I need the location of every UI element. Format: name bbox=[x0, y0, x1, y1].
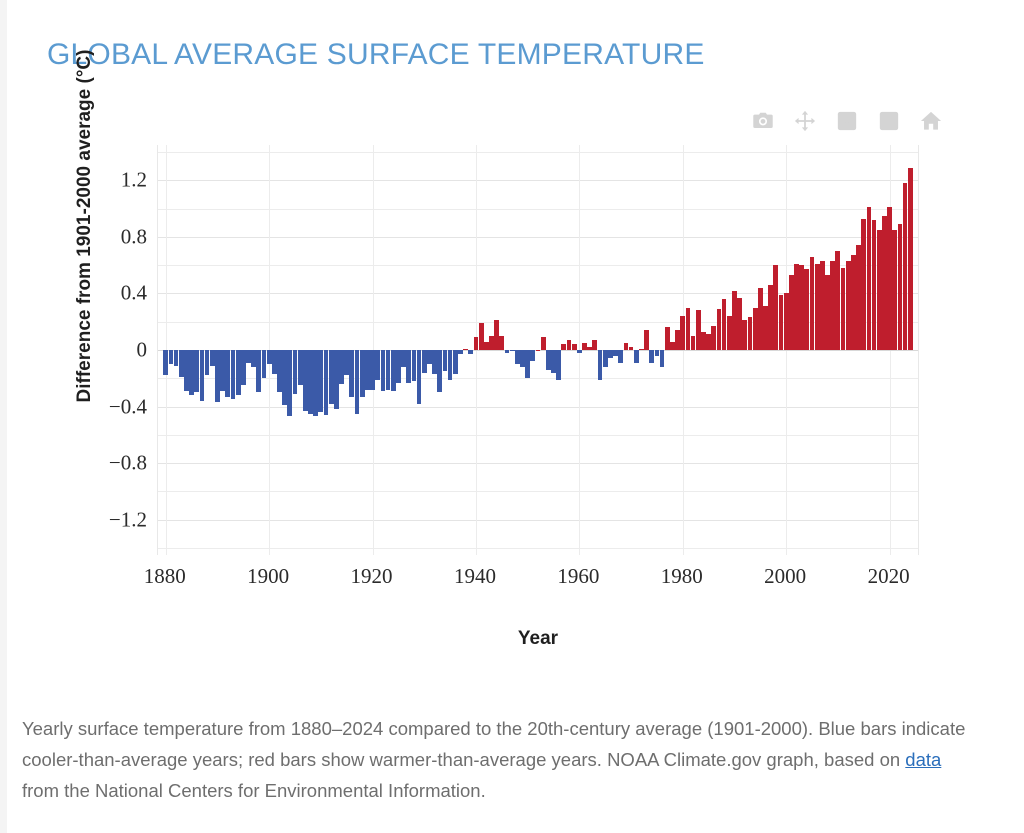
bar-1928[interactable] bbox=[412, 350, 417, 381]
bar-1994[interactable] bbox=[753, 308, 758, 350]
y-tick-label: −1.2 bbox=[87, 507, 147, 532]
bar-1932[interactable] bbox=[432, 350, 437, 374]
bar-1917[interactable] bbox=[355, 350, 360, 414]
bar-1904[interactable] bbox=[287, 350, 292, 416]
x-tick-label: 1900 bbox=[223, 564, 313, 589]
bar-1895[interactable] bbox=[241, 350, 246, 385]
bar-1884[interactable] bbox=[184, 350, 189, 391]
bar-1965[interactable] bbox=[603, 350, 608, 367]
bar-2001[interactable] bbox=[789, 275, 794, 350]
bar-1914[interactable] bbox=[339, 350, 344, 384]
bar-1990[interactable] bbox=[732, 291, 737, 350]
bar-1918[interactable] bbox=[360, 350, 365, 397]
bar-2023[interactable] bbox=[903, 183, 908, 350]
bar-1960[interactable] bbox=[577, 350, 582, 353]
bar-1912[interactable] bbox=[329, 350, 334, 404]
bar-1885[interactable] bbox=[189, 350, 194, 395]
bar-1995[interactable] bbox=[758, 288, 763, 350]
caption-text-part1: Yearly surface temperature from 1880–202… bbox=[22, 718, 965, 770]
bar-1999[interactable] bbox=[779, 295, 784, 350]
bar-2002[interactable] bbox=[794, 264, 799, 350]
bar-1926[interactable] bbox=[401, 350, 406, 367]
bar-2022[interactable] bbox=[898, 224, 903, 350]
bar-2009[interactable] bbox=[830, 261, 835, 350]
bar-1897[interactable] bbox=[251, 350, 256, 367]
bar-2020[interactable] bbox=[887, 207, 892, 350]
bar-1968[interactable] bbox=[618, 350, 623, 363]
bar-1973[interactable] bbox=[644, 330, 649, 350]
bar-2010[interactable] bbox=[835, 251, 840, 350]
bar-1900[interactable] bbox=[267, 350, 272, 364]
bar-2014[interactable] bbox=[856, 245, 861, 350]
bar-1978[interactable] bbox=[670, 342, 675, 350]
bar-1887[interactable] bbox=[200, 350, 205, 401]
chart-container: Difference from 1901-2000 average (°C) 1… bbox=[0, 0, 1024, 700]
bar-2021[interactable] bbox=[892, 230, 897, 350]
bar-1910[interactable] bbox=[318, 350, 323, 412]
bar-1962[interactable] bbox=[587, 347, 592, 350]
bar-1925[interactable] bbox=[396, 350, 401, 383]
bar-1930[interactable] bbox=[422, 350, 427, 373]
bar-1902[interactable] bbox=[277, 350, 282, 392]
bar-1974[interactable] bbox=[649, 350, 654, 363]
bar-2016[interactable] bbox=[867, 207, 872, 350]
bar-1929[interactable] bbox=[417, 350, 422, 404]
bar-1989[interactable] bbox=[727, 316, 732, 350]
bar-1920[interactable] bbox=[370, 350, 375, 390]
bar-1894[interactable] bbox=[236, 350, 241, 395]
x-tick-label: 1880 bbox=[120, 564, 210, 589]
bar-1959[interactable] bbox=[572, 344, 577, 350]
bar-1935[interactable] bbox=[448, 350, 453, 380]
x-tick-label: 1940 bbox=[430, 564, 520, 589]
bar-2024[interactable] bbox=[908, 168, 913, 350]
bar-1955[interactable] bbox=[551, 350, 556, 373]
bar-1970[interactable] bbox=[629, 347, 634, 350]
bar-1919[interactable] bbox=[365, 350, 370, 390]
bar-1911[interactable] bbox=[324, 350, 329, 415]
y-tick-label: 1.2 bbox=[87, 168, 147, 193]
bar-1971[interactable] bbox=[634, 350, 639, 363]
bar-1899[interactable] bbox=[262, 350, 267, 378]
x-tick-label: 1960 bbox=[533, 564, 623, 589]
bar-1954[interactable] bbox=[546, 350, 551, 370]
bar-1896[interactable] bbox=[246, 350, 251, 363]
bar-2007[interactable] bbox=[820, 261, 825, 350]
bar-1945[interactable] bbox=[499, 336, 504, 350]
bar-1892[interactable] bbox=[225, 350, 230, 397]
data-link[interactable]: data bbox=[905, 749, 941, 770]
bar-1986[interactable] bbox=[711, 326, 716, 350]
bar-1938[interactable] bbox=[463, 349, 468, 350]
x-tick-label: 1920 bbox=[327, 564, 417, 589]
bar-1984[interactable] bbox=[701, 332, 706, 350]
bar-1903[interactable] bbox=[282, 350, 287, 405]
y-axis-ticks: 1.20.80.40−0.4−0.8−1.2 bbox=[77, 145, 147, 555]
bar-1981[interactable] bbox=[686, 308, 691, 350]
bar-1958[interactable] bbox=[567, 340, 572, 350]
bar-1943[interactable] bbox=[489, 336, 494, 350]
bar-1893[interactable] bbox=[231, 350, 236, 399]
bar-1996[interactable] bbox=[763, 306, 768, 350]
bar-2011[interactable] bbox=[841, 268, 846, 350]
bar-1886[interactable] bbox=[194, 350, 199, 392]
bar-1967[interactable] bbox=[613, 350, 618, 356]
bar-1979[interactable] bbox=[675, 330, 680, 350]
bar-1977[interactable] bbox=[665, 327, 670, 350]
bar-2006[interactable] bbox=[815, 264, 820, 350]
bar-1889[interactable] bbox=[210, 350, 215, 366]
bar-1908[interactable] bbox=[308, 350, 313, 414]
bar-1961[interactable] bbox=[582, 343, 587, 350]
y-tick-label: 0 bbox=[87, 338, 147, 363]
bar-2017[interactable] bbox=[872, 220, 877, 350]
bar-1883[interactable] bbox=[179, 350, 184, 377]
bar-1933[interactable] bbox=[437, 350, 442, 392]
bar-1944[interactable] bbox=[494, 320, 499, 350]
bar-1880[interactable] bbox=[163, 350, 168, 375]
plot-area[interactable] bbox=[157, 145, 919, 555]
figure-caption: Yearly surface temperature from 1880–202… bbox=[22, 713, 982, 806]
bar-2019[interactable] bbox=[882, 216, 887, 350]
bar-1972[interactable] bbox=[639, 349, 644, 350]
bar-2000[interactable] bbox=[784, 293, 789, 350]
bar-1906[interactable] bbox=[298, 350, 303, 385]
bar-1907[interactable] bbox=[303, 350, 308, 411]
bar-1946[interactable] bbox=[505, 350, 510, 353]
x-axis-title: Year bbox=[157, 628, 919, 650]
bar-1998[interactable] bbox=[773, 265, 778, 350]
bar-1956[interactable] bbox=[556, 350, 561, 380]
bar-2004[interactable] bbox=[804, 269, 809, 350]
bar-1988[interactable] bbox=[722, 299, 727, 350]
x-tick-label: 2020 bbox=[844, 564, 934, 589]
bar-1916[interactable] bbox=[349, 350, 354, 397]
bar-1940[interactable] bbox=[474, 337, 479, 350]
bar-1966[interactable] bbox=[608, 350, 613, 358]
bar-1983[interactable] bbox=[696, 310, 701, 350]
bar-1937[interactable] bbox=[458, 350, 463, 354]
bar-1941[interactable] bbox=[479, 323, 484, 350]
bar-2015[interactable] bbox=[861, 219, 866, 350]
bar-1921[interactable] bbox=[375, 350, 380, 380]
bar-1913[interactable] bbox=[334, 350, 339, 409]
bar-2012[interactable] bbox=[846, 261, 851, 350]
bar-1952[interactable] bbox=[536, 350, 541, 351]
bar-1951[interactable] bbox=[530, 350, 535, 361]
bar-1963[interactable] bbox=[592, 340, 597, 350]
bar-series bbox=[158, 145, 918, 555]
bar-1949[interactable] bbox=[520, 350, 525, 367]
x-tick-label: 1980 bbox=[637, 564, 727, 589]
bar-1976[interactable] bbox=[660, 350, 665, 367]
bar-1888[interactable] bbox=[205, 350, 210, 375]
bar-1901[interactable] bbox=[272, 350, 277, 374]
y-tick-label: 0.8 bbox=[87, 224, 147, 249]
bar-1939[interactable] bbox=[468, 350, 473, 354]
bar-1992[interactable] bbox=[742, 320, 747, 350]
bar-1975[interactable] bbox=[655, 350, 660, 356]
bar-1953[interactable] bbox=[541, 337, 546, 350]
bar-1991[interactable] bbox=[737, 298, 742, 350]
bar-1987[interactable] bbox=[717, 309, 722, 350]
bar-1915[interactable] bbox=[344, 350, 349, 375]
bar-1905[interactable] bbox=[293, 350, 298, 394]
bar-1882[interactable] bbox=[174, 350, 179, 366]
caption-text-part2: from the National Centers for Environmen… bbox=[22, 780, 486, 801]
bar-2005[interactable] bbox=[810, 257, 815, 350]
bar-1924[interactable] bbox=[391, 350, 396, 391]
bar-2003[interactable] bbox=[799, 265, 804, 350]
bar-1898[interactable] bbox=[256, 350, 261, 392]
bar-1936[interactable] bbox=[453, 350, 458, 374]
y-tick-label: −0.8 bbox=[87, 451, 147, 476]
x-tick-label: 2000 bbox=[740, 564, 830, 589]
bar-1997[interactable] bbox=[768, 285, 773, 350]
bar-1923[interactable] bbox=[386, 350, 391, 390]
bar-1881[interactable] bbox=[169, 350, 174, 364]
x-axis-ticks: 18801900192019401960198020002020 bbox=[157, 564, 919, 594]
bar-1891[interactable] bbox=[220, 350, 225, 391]
bar-1948[interactable] bbox=[515, 350, 520, 364]
bar-1993[interactable] bbox=[748, 317, 753, 350]
bar-1934[interactable] bbox=[443, 350, 448, 371]
bar-2013[interactable] bbox=[851, 255, 856, 350]
bar-2008[interactable] bbox=[825, 275, 830, 350]
bar-1969[interactable] bbox=[624, 343, 629, 350]
bar-1922[interactable] bbox=[381, 350, 386, 391]
bar-1931[interactable] bbox=[427, 350, 432, 364]
bar-1982[interactable] bbox=[691, 336, 696, 350]
bar-1890[interactable] bbox=[215, 350, 220, 402]
bar-1927[interactable] bbox=[406, 350, 411, 383]
bar-1942[interactable] bbox=[484, 342, 489, 350]
bar-1909[interactable] bbox=[313, 350, 318, 416]
bar-1980[interactable] bbox=[680, 316, 685, 350]
bar-2018[interactable] bbox=[877, 230, 882, 350]
bar-1957[interactable] bbox=[561, 344, 566, 350]
bar-1947[interactable] bbox=[510, 350, 515, 351]
bar-1985[interactable] bbox=[706, 334, 711, 350]
y-tick-label: 0.4 bbox=[87, 281, 147, 306]
bar-1964[interactable] bbox=[598, 350, 603, 380]
y-tick-label: −0.4 bbox=[87, 394, 147, 419]
page-root: GLOBAL AVERAGE SURFACE TEMPERATURE bbox=[0, 0, 1024, 833]
bar-1950[interactable] bbox=[525, 350, 530, 378]
